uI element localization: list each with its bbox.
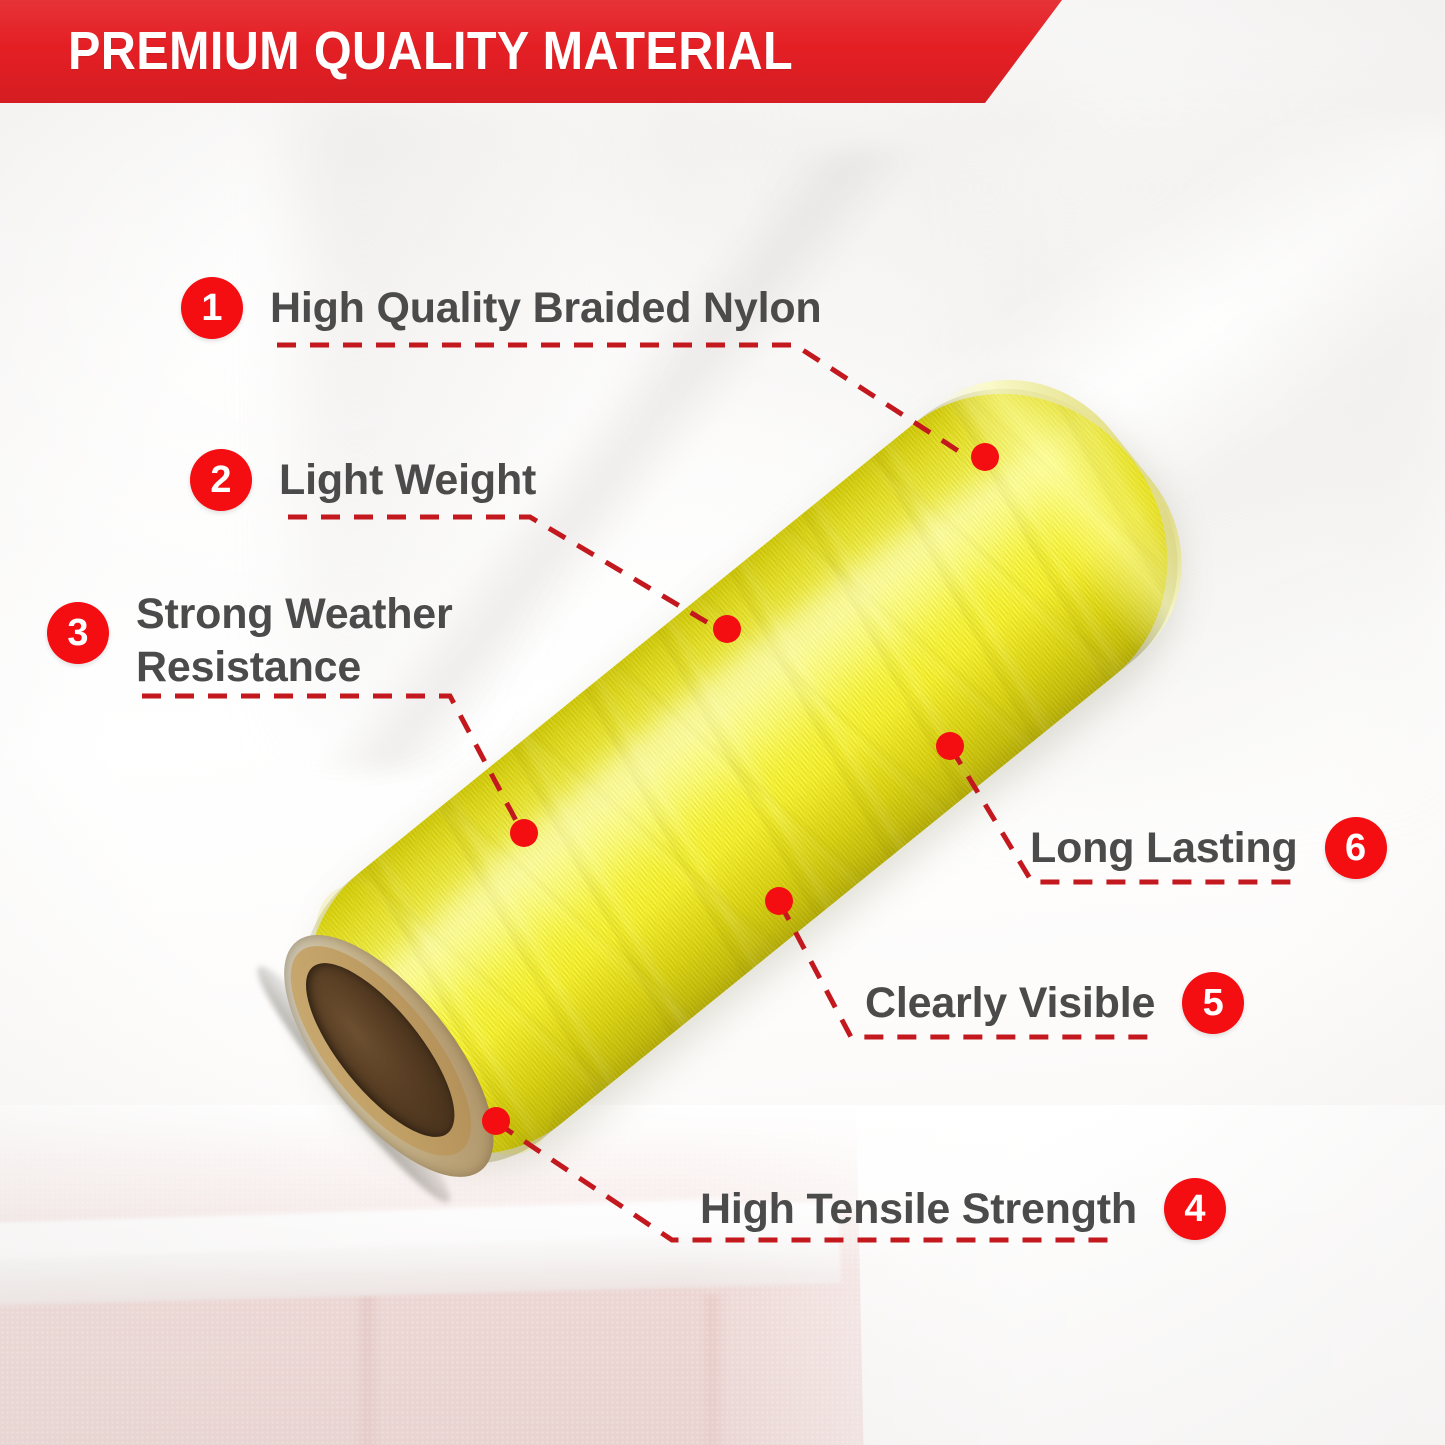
callout-label-1: High Quality Braided Nylon [270, 281, 821, 335]
callout-5[interactable]: Clearly Visible 5 [865, 972, 1244, 1034]
callout-2[interactable]: 2 Light Weight [190, 449, 536, 511]
callout-1[interactable]: 1 High Quality Braided Nylon [181, 277, 821, 339]
callout-label-2: Light Weight [279, 453, 536, 507]
callout-badge-2: 2 [190, 449, 252, 511]
callout-badge-5: 5 [1182, 972, 1244, 1034]
callout-3[interactable]: 3 Strong Weather Resistance [47, 588, 556, 694]
infographic-canvas: PREMIUM QUALITY MATERIAL 1 High Quality … [0, 0, 1445, 1445]
callout-label-6: Long Lasting [1030, 821, 1298, 875]
callout-badge-1: 1 [181, 277, 243, 339]
callout-4[interactable]: High Tensile Strength 4 [700, 1178, 1226, 1240]
callout-label-3: Strong Weather Resistance [136, 588, 556, 694]
callout-badge-4: 4 [1164, 1178, 1226, 1240]
callout-badge-6: 6 [1325, 817, 1387, 879]
banner-title: PREMIUM QUALITY MATERIAL [68, 18, 793, 84]
callout-label-4: High Tensile Strength [700, 1182, 1137, 1236]
callout-badge-3: 3 [47, 602, 109, 664]
callout-label-5: Clearly Visible [865, 976, 1155, 1030]
callout-6[interactable]: Long Lasting 6 [1030, 817, 1387, 879]
